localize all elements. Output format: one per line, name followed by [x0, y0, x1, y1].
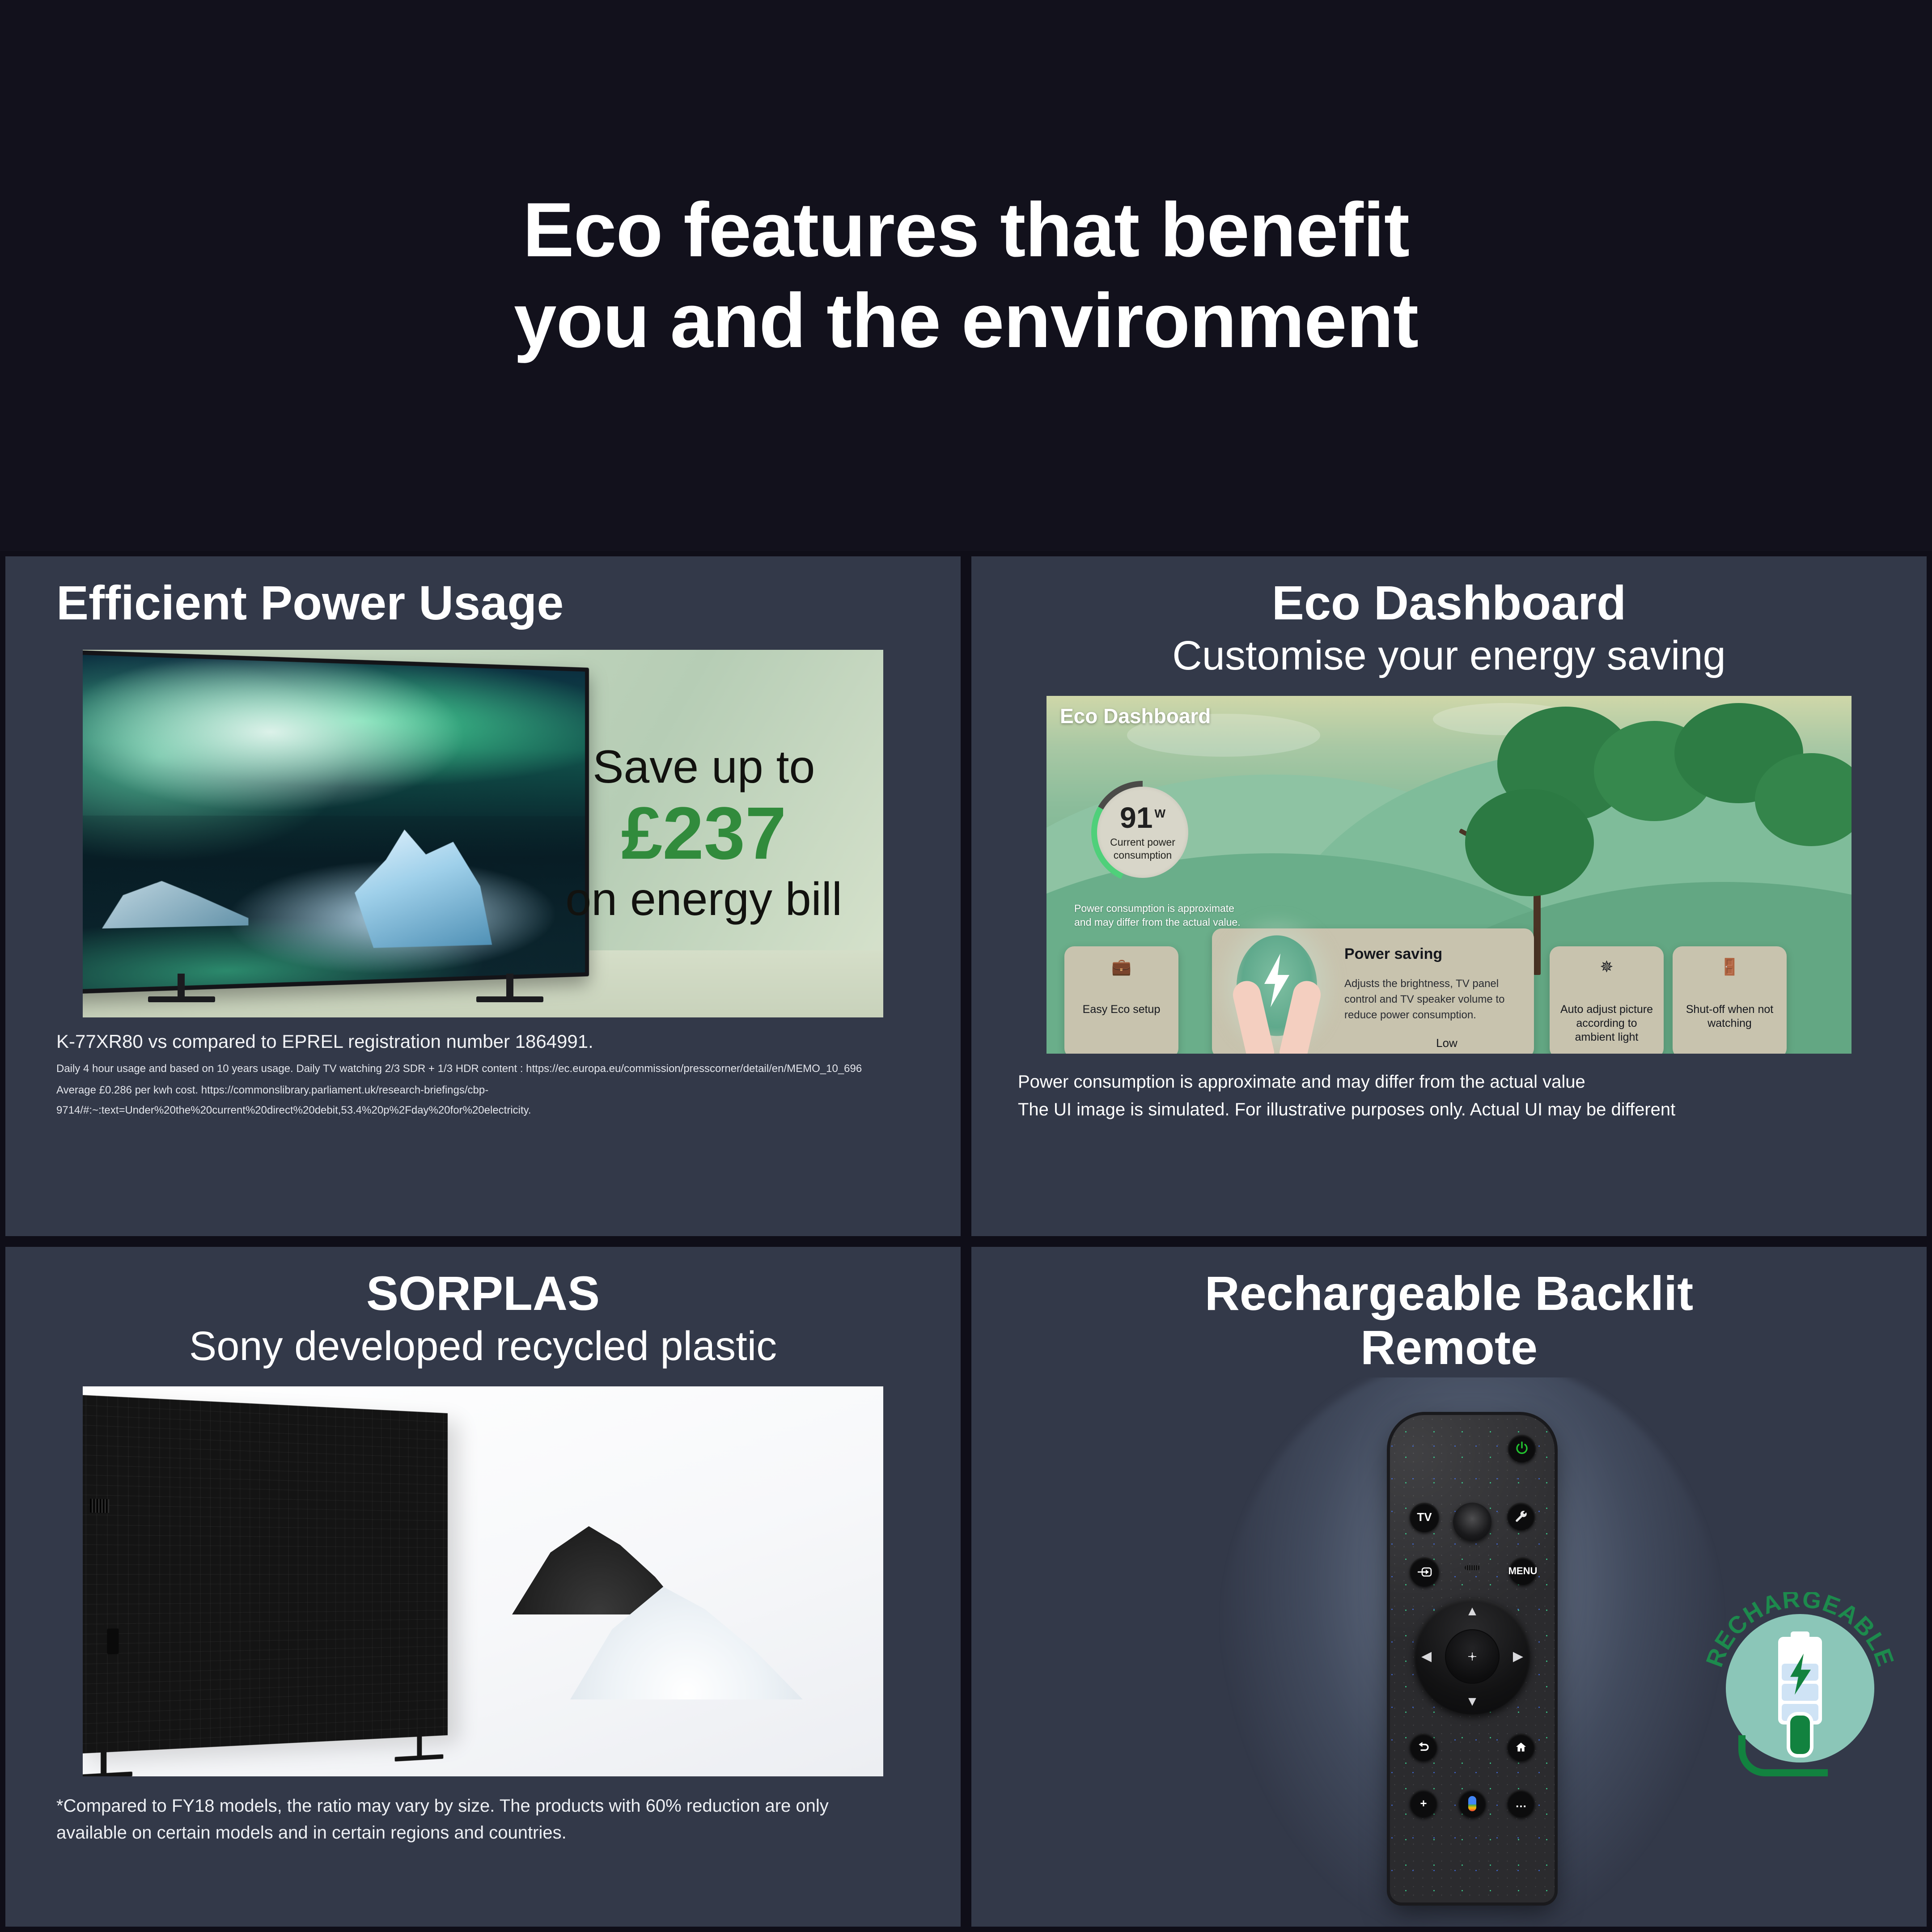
page-title: Eco features that benefit you and the en…: [514, 185, 1418, 366]
tv-foot-right: [395, 1754, 444, 1762]
remote-back-button[interactable]: [1410, 1733, 1437, 1761]
card-value: On: [1599, 1052, 1614, 1054]
panel-title-power: Efficient Power Usage: [29, 576, 937, 630]
battery-bolt-icon: [1788, 1653, 1813, 1698]
home-icon: [1515, 1741, 1527, 1754]
tv-unit: [102, 668, 589, 976]
power-footnote-main: K-77XR80 vs compared to EPREL registrati…: [56, 1031, 937, 1052]
dashboard-note-line-1: Power consumption is approximate: [1074, 902, 1241, 915]
card-shut-off-when-not-watching[interactable]: 🚪 Shut-off when not watching: [1673, 946, 1787, 1054]
dpad-left-icon[interactable]: ◀: [1421, 1650, 1432, 1663]
power-consumption-gauge: 91W Current power consumption: [1091, 781, 1194, 884]
card-label: Power saving: [1344, 945, 1519, 963]
tv-rear-panel: [83, 1394, 448, 1754]
dashboard-note-line-2: and may differ from the actual value.: [1074, 915, 1241, 929]
tv-screen: [83, 650, 589, 995]
dashboard-disclaimer: Power consumption is approximate and may…: [1018, 1068, 1903, 1123]
aurora-scene-icon: [83, 654, 585, 990]
remote-plus-label: +: [1420, 1796, 1427, 1810]
charging-cord: [1738, 1735, 1828, 1776]
remote-menu-button[interactable]: MENU: [1509, 1557, 1537, 1585]
hero-title-line-1: Eco features that benefit: [514, 185, 1418, 275]
panel-title-remote-line-2: Remote: [995, 1321, 1903, 1375]
feature-grid: Efficient Power Usage: [0, 551, 1932, 1932]
card-label: Shut-off when not watching: [1673, 1003, 1787, 1031]
bolt-in-hands-icon: [1212, 928, 1342, 1054]
dashboard-screen-label: Eco Dashboard: [1060, 704, 1211, 728]
savings-prefix: Save up to: [565, 743, 842, 792]
panel-title-sorplas: SORPLAS: [29, 1267, 937, 1321]
gauge-caption: Current power consumption: [1110, 836, 1175, 862]
back-arrow-icon: [1417, 1741, 1430, 1754]
remote-menu-label: MENU: [1508, 1565, 1538, 1577]
dpad-right-icon[interactable]: ▶: [1513, 1650, 1523, 1663]
tv-foot-left: [148, 996, 215, 1002]
toolbox-icon: 💼: [1111, 959, 1131, 975]
dpad-down-icon[interactable]: ▼: [1466, 1695, 1479, 1708]
remote-volume-up-button[interactable]: +: [1410, 1790, 1437, 1818]
dpad-up-icon[interactable]: ▲: [1466, 1605, 1479, 1618]
hands-icon: [1235, 975, 1318, 1054]
bolt-svg: [1788, 1653, 1813, 1696]
panel-sorplas: SORPLAS Sony developed recycled plastic …: [0, 1241, 966, 1932]
hero-header: Eco features that benefit you and the en…: [0, 0, 1932, 551]
panel-rechargeable-backlit-remote: Rechargeable Backlit Remote: [966, 1241, 1932, 1932]
gauge-face: 91W Current power consumption: [1097, 787, 1188, 878]
card-easy-eco-setup[interactable]: 💼 Easy Eco setup: [1064, 946, 1178, 1054]
dpad-select-button[interactable]: [1445, 1629, 1500, 1684]
card-auto-adjust-picture[interactable]: ✵ Auto adjust picture according to ambie…: [1550, 946, 1664, 1054]
wrench-icon: [1514, 1510, 1528, 1523]
sorplas-product-image: [83, 1386, 883, 1776]
remote-input-button[interactable]: [1410, 1557, 1439, 1587]
remote-power-button[interactable]: [1508, 1435, 1536, 1462]
panel-title-remote: Rechargeable Backlit Remote: [995, 1267, 1903, 1375]
tv-foot-left: [83, 1771, 132, 1776]
gauge-caption-line-2: consumption: [1110, 849, 1175, 862]
rechargeable-badge: RECHARGEABLE: [1704, 1592, 1896, 1784]
eco-dashboard-ui-screenshot: Eco Dashboard 91W Current power consumpt…: [1046, 696, 1851, 1054]
battery-charging-icon: [1778, 1637, 1822, 1724]
remote-dots-label: …: [1515, 1796, 1527, 1810]
remote-more-options-button[interactable]: …: [1507, 1790, 1535, 1818]
remote-google-assistant-button[interactable]: [1458, 1790, 1486, 1818]
panel-title-dashboard: Eco Dashboard: [995, 576, 1903, 630]
remote-tv-label: TV: [1417, 1510, 1432, 1524]
dashboard-card-row: 💼 Easy Eco setup: [1064, 928, 1851, 1054]
gauge-value: 91: [1120, 801, 1152, 834]
card-label: Easy Eco setup: [1077, 1003, 1166, 1017]
gauge-ring: 91W Current power consumption: [1091, 781, 1194, 884]
gauge-caption-line-1: Current power: [1110, 836, 1175, 849]
card-label: Auto adjust picture according to ambient…: [1550, 1003, 1664, 1045]
remote-control: TV: [1390, 1415, 1555, 1902]
dashboard-disclaimer-line-2: The UI image is simulated. For illustrat…: [1018, 1096, 1903, 1123]
tv-stand-left: [101, 1749, 106, 1775]
panel-efficient-power-usage: Efficient Power Usage: [0, 551, 966, 1241]
remote-microphone-hole: [1465, 1565, 1480, 1570]
hero-title-line-2: you and the environment: [514, 275, 1418, 366]
charging-plug: [1790, 1716, 1810, 1754]
panel-title-remote-line-1: Rechargeable Backlit: [995, 1267, 1903, 1321]
dashboard-disclaimer-line-1: Power consumption is approximate and may…: [1018, 1068, 1903, 1096]
remote-settings-button[interactable]: [1507, 1503, 1535, 1530]
remote-nub[interactable]: [1453, 1503, 1491, 1541]
tv-stand-left: [178, 974, 185, 1000]
panel-subtitle-dashboard: Customise your energy saving: [995, 633, 1903, 679]
power-footnote-1: Daily 4 hour usage and based on 10 years…: [56, 1059, 937, 1079]
tv-stand-right: [506, 974, 513, 1000]
tv-foot-right: [476, 996, 543, 1002]
dashboard-inline-note: Power consumption is approximate and may…: [1074, 902, 1241, 929]
gauge-unit: W: [1154, 807, 1165, 820]
eco-features-infographic: Eco features that benefit you and the en…: [0, 0, 1932, 1932]
card-value: Low: [1360, 1036, 1534, 1050]
google-assistant-mic-icon: [1468, 1796, 1476, 1811]
input-icon: [1417, 1566, 1432, 1578]
sorplas-footnote: *Compared to FY18 models, the ratio may …: [56, 1792, 861, 1846]
select-crosshair-icon: [1467, 1652, 1477, 1661]
tv-energy-savings-image: Save up to £237 on energy bill: [83, 650, 883, 1017]
gauge-value-group: 91W: [1120, 803, 1165, 832]
tree-foliage: [1465, 789, 1594, 896]
panel-subtitle-sorplas: Sony developed recycled plastic: [29, 1323, 937, 1369]
screen-off-icon: 🚪: [1720, 959, 1740, 975]
card-description: Adjusts the brightness, TV panel control…: [1344, 976, 1519, 1023]
tv-port: [107, 1628, 119, 1654]
tv-stand-right: [417, 1734, 422, 1758]
remote-home-button[interactable]: [1507, 1733, 1535, 1761]
savings-callout: Save up to £237 on energy bill: [565, 743, 842, 924]
power-icon: [1514, 1441, 1529, 1456]
remote-tv-button[interactable]: TV: [1410, 1503, 1439, 1532]
hand-right: [1279, 978, 1323, 1054]
remote-stage: TV: [995, 1377, 1932, 1927]
panel-eco-dashboard: Eco Dashboard Customise your energy savi…: [966, 551, 1932, 1241]
card-power-saving[interactable]: Power saving Adjusts the brightness, TV …: [1212, 928, 1534, 1054]
power-footnote-2: Average £0.286 per kwh cost. https://com…: [56, 1080, 937, 1121]
savings-amount: £237: [565, 793, 842, 873]
hand-left: [1230, 978, 1275, 1054]
auto-brightness-icon: ✵: [1600, 959, 1613, 975]
remote-dpad[interactable]: ▲ ▼ ◀ ▶: [1414, 1598, 1530, 1715]
tv-vent: [90, 1499, 109, 1513]
savings-suffix: on energy bill: [565, 876, 842, 924]
